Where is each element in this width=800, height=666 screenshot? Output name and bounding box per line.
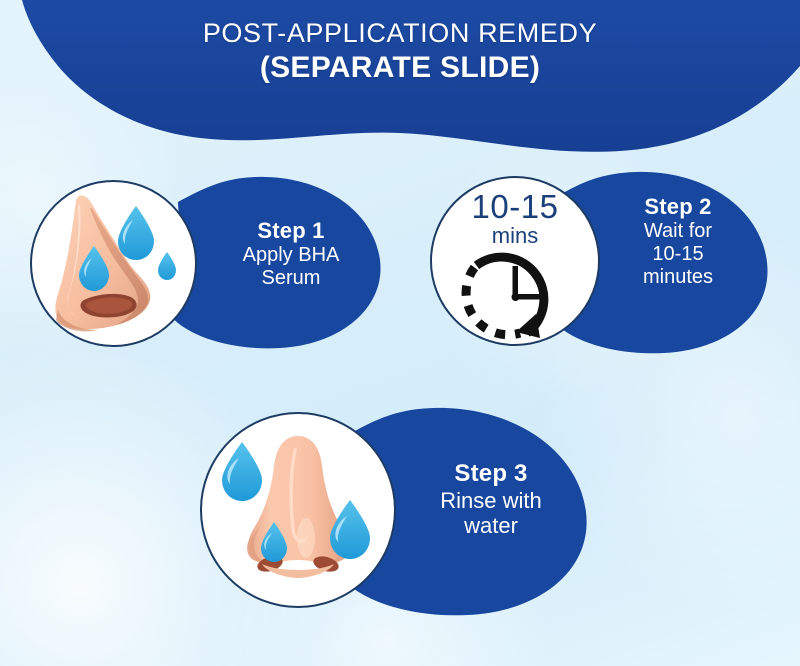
step-2-desc-line-3: minutes	[580, 266, 776, 289]
step-3-title: Step 3	[378, 460, 604, 488]
step-2-icon-circle: 10-15 mins	[430, 176, 600, 346]
banner-title-block: POST-APPLICATION REMEDY (SEPARATE SLIDE)	[0, 18, 800, 85]
step-1-title: Step 1	[198, 218, 384, 244]
page-title-line-2: (SEPARATE SLIDE)	[0, 51, 800, 85]
header-banner: POST-APPLICATION REMEDY (SEPARATE SLIDE)	[0, 0, 800, 165]
step-2-text-block: Step 2 Wait for 10-15 minutes	[580, 194, 776, 289]
step-1-desc-line-2: Serum	[198, 267, 384, 290]
step-2-title: Step 2	[580, 194, 776, 220]
infographic-canvas: POST-APPLICATION REMEDY (SEPARATE SLIDE)…	[0, 0, 800, 666]
step-card-1[interactable]: Step 1 Apply BHA Serum	[28, 172, 388, 354]
clock-dashed-arrow-icon	[454, 240, 576, 344]
step-2-desc-line-2: 10-15	[580, 243, 776, 266]
step-card-2[interactable]: Step 2 Wait for 10-15 minutes 10-15 mins	[430, 168, 790, 358]
clock-duration-value: 10-15	[472, 188, 559, 225]
step-2-desc-line-1: Wait for	[580, 220, 776, 243]
step-card-3[interactable]: Step 3 Rinse with water	[196, 404, 616, 620]
step-1-icon-circle	[30, 180, 197, 347]
step-3-desc-line-1: Rinse with	[378, 488, 604, 514]
step-3-icon-circle	[200, 412, 396, 608]
step-3-text-block: Step 3 Rinse with water	[378, 460, 604, 539]
step-1-text-block: Step 1 Apply BHA Serum	[198, 218, 384, 290]
page-title-line-1: POST-APPLICATION REMEDY	[0, 18, 800, 48]
step-1-desc-line-1: Apply BHA	[198, 244, 384, 267]
step-3-desc-line-2: water	[378, 513, 604, 539]
nose-side-with-droplets-icon	[32, 182, 195, 345]
nose-front-with-droplets-icon	[202, 414, 394, 606]
clock-duration-label: 10-15 mins	[432, 190, 598, 247]
